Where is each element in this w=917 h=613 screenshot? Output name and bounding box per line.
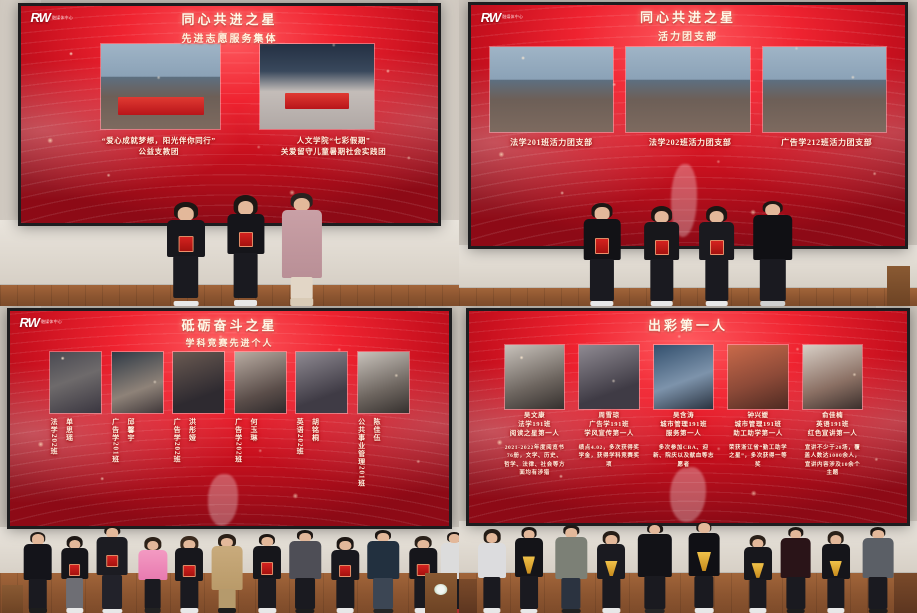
coat xyxy=(555,537,586,579)
panel4-honoree-4-detail: 荣获浙江省“勤工助学之星”，多次获得一等奖 xyxy=(727,444,788,469)
legs xyxy=(102,575,122,609)
legs xyxy=(590,259,614,301)
legs xyxy=(295,578,315,609)
panel4-portrait-1 xyxy=(504,344,565,410)
shoes xyxy=(695,608,714,613)
honoree-name: 胡铭桐 xyxy=(311,418,319,442)
honoree-major: 广告学202班 xyxy=(173,418,181,464)
panel3-honoree-1-major: 法学202班 xyxy=(49,418,58,513)
certificate xyxy=(339,565,351,577)
legs xyxy=(373,578,393,609)
honoree-name: 吴含涛 xyxy=(653,412,714,421)
photo-portrait xyxy=(235,352,286,412)
legs xyxy=(562,578,581,609)
jacket xyxy=(289,541,320,579)
awardee-person xyxy=(555,525,587,613)
legs xyxy=(694,576,713,609)
photo-portrait xyxy=(358,352,409,412)
honoree-major: 广告学201班 xyxy=(112,418,120,464)
panel2-awardees xyxy=(459,177,917,306)
awardee-person xyxy=(289,530,321,613)
honoree-name: 何玉琳 xyxy=(250,418,258,442)
panel3-portrait-1 xyxy=(49,351,102,413)
head xyxy=(698,523,710,532)
led-screen-4: 出彩第一人 吴文康 法学191班 阅读之星第一人 周雪琼 广告学191班 学风宣… xyxy=(466,308,910,526)
panel3-honoree-6: 陈佳伍 xyxy=(372,418,381,517)
panel4-honoree-2-head: 周雪琼 广告学191班 学风宣传第一人 xyxy=(578,412,639,438)
honoree-honor: 学风宣传第一人 xyxy=(578,430,639,439)
legs xyxy=(66,578,84,609)
honoree-honor: 阅读之星第一人 xyxy=(504,430,565,439)
shoes xyxy=(337,608,354,613)
certificate xyxy=(69,564,81,576)
photo-portrait xyxy=(50,352,101,412)
legs xyxy=(144,579,161,609)
awardee-person xyxy=(752,201,793,306)
panel4-honoree-5-detail: 宣讲不少于20场，覆盖人数达1000余人，宣讲内容涉及10余个主题 xyxy=(802,444,863,477)
panel2-headline-sub: 活力团支部 xyxy=(471,28,905,43)
panel1-caption-1-line2: 公益支教团 xyxy=(63,147,254,157)
panel3-awardees xyxy=(0,521,459,613)
honoree-name: 俞佳楠 xyxy=(802,412,863,421)
shoes xyxy=(749,608,766,613)
shoes xyxy=(650,301,673,306)
panel4-awardees xyxy=(459,518,917,613)
legs xyxy=(337,579,354,609)
photo-portrait xyxy=(173,352,224,412)
coat xyxy=(212,546,243,590)
honoree-major: 城市管理191班 xyxy=(727,421,788,430)
shoes xyxy=(29,608,47,613)
shoes xyxy=(869,609,888,613)
panel4-honoree-4-head: 钟兴媛 城市管理191班 助工助学第一人 xyxy=(727,412,788,438)
panel3-headline-main: 砥砺奋斗之星 xyxy=(10,315,449,334)
shoes xyxy=(103,609,122,613)
honoree-name: 邱馨宇 xyxy=(127,418,135,442)
panel4-honoree-1-head: 吴文康 法学191班 阅读之星第一人 xyxy=(504,412,565,438)
awardee-person xyxy=(688,522,720,613)
awardee-person xyxy=(60,536,90,613)
awardee-person xyxy=(225,195,266,306)
honoree-major: 英语202班 xyxy=(296,418,304,456)
certificate xyxy=(107,555,119,567)
photo-portrait xyxy=(579,345,638,409)
honoree-name: 钟兴媛 xyxy=(727,412,788,421)
shoes xyxy=(520,609,537,613)
panel1-photo-2 xyxy=(259,43,376,130)
certificate xyxy=(595,238,609,253)
suit xyxy=(780,538,811,577)
panel4-headline: 出彩第一人 xyxy=(469,315,907,334)
led-screen-3: RW 融媒体中心 砥砺奋斗之星 学科竞赛先进个人 单思瑶 法学202班 邱馨宇 … xyxy=(7,308,452,529)
honoree-name: 吴文康 xyxy=(504,412,565,421)
shoes xyxy=(66,608,83,613)
shoes xyxy=(259,608,276,613)
lectern xyxy=(894,573,917,613)
legs xyxy=(644,576,665,608)
legs xyxy=(705,259,728,301)
panel1-caption-1-line1: “爱心成就梦想，阳光伴你同行” xyxy=(63,136,254,146)
shoes xyxy=(760,301,786,306)
panel4-portrait-2 xyxy=(578,344,639,410)
shoes xyxy=(590,301,613,306)
photo-portrait xyxy=(296,352,347,412)
shoes xyxy=(786,609,805,613)
boots xyxy=(290,298,314,306)
awardee-person xyxy=(862,527,894,613)
certificate xyxy=(183,565,196,577)
honoree-name: 周雪琼 xyxy=(578,412,639,421)
panel-bottom-right: 出彩第一人 吴文康 法学191班 阅读之星第一人 周雪琼 广告学191班 学风宣… xyxy=(459,306,917,613)
panel4-honoree-3-head: 吴含涛 城市管理191班 服务第一人 xyxy=(653,412,714,438)
panel1-caption-1: “爱心成就梦想，阳光伴你同行” 公益支教团 xyxy=(63,136,254,156)
panel3-honoree-2: 邱馨宇 xyxy=(126,418,135,513)
awardee-person xyxy=(165,202,206,306)
head xyxy=(649,525,661,534)
panel1-headline: 同心共进之星 先进志愿服务集体 xyxy=(21,9,437,45)
shoes xyxy=(144,608,161,613)
puffer-jacket xyxy=(138,550,167,580)
panel-top-right: RW 融媒体中心 同心共进之星 活力团支部 法学201班活力团支部 法学202班… xyxy=(459,0,917,306)
panel2-headline: 同心共进之星 活力团支部 xyxy=(471,7,905,43)
awardee-person xyxy=(330,537,360,613)
legs xyxy=(219,589,236,610)
panel3-headline-sub: 学科竞赛先进个人 xyxy=(10,336,449,349)
honoree-name: 单思瑶 xyxy=(66,418,74,442)
shoes xyxy=(484,608,501,613)
awardee-person xyxy=(96,526,128,613)
awardee-person xyxy=(697,206,736,306)
legs xyxy=(650,259,673,301)
lectern xyxy=(887,266,910,306)
shoes xyxy=(218,608,236,613)
photo-portrait xyxy=(505,345,564,409)
panel1-headline-sub: 先进志愿服务集体 xyxy=(21,30,437,45)
shoes xyxy=(644,609,665,613)
legs xyxy=(760,259,786,301)
shoes xyxy=(234,300,258,306)
awardee-person xyxy=(642,206,681,306)
legs xyxy=(181,580,198,609)
panel3-honoree-6-major: 公共事业管理201班 xyxy=(357,418,366,517)
panel3-portrait-6 xyxy=(357,351,410,413)
panel3-headline: 砥砺奋斗之星 学科竞赛先进个人 xyxy=(10,315,449,349)
honoree-major: 法学202班 xyxy=(50,418,58,456)
shoes xyxy=(173,301,198,306)
panel1-caption-2-line2: 关爱留守儿童暑期社会实践团 xyxy=(238,147,429,157)
jacket xyxy=(863,538,894,577)
photo-classroom xyxy=(490,47,614,132)
photo-outdoor-group xyxy=(101,44,220,129)
photo-hall-group xyxy=(260,44,375,129)
awardee-person xyxy=(638,524,672,613)
photo-classroom xyxy=(763,47,887,132)
photo-collage: RW 融媒体中心 同心共进之星 先进志愿服务集体 “爱心成就梦想，阳光伴你同行”… xyxy=(0,0,917,613)
honoree-major: 城市管理191班 xyxy=(653,421,714,430)
school-emblem-icon xyxy=(434,584,447,595)
legs xyxy=(258,578,276,609)
panel3-honoree-5-major: 英语202班 xyxy=(295,418,304,513)
honoree-honor: 服务第一人 xyxy=(653,430,714,439)
photo-banner xyxy=(118,97,203,116)
side-podium xyxy=(459,579,477,613)
panel4-honoree-1-detail: 2021-2022年度阅览书76册，文学、历史、哲学、法律、社会等方面均有涉猎 xyxy=(504,444,565,477)
legs xyxy=(603,578,620,609)
legs xyxy=(290,277,313,300)
panel3-honoree-4-major: 广告学202班 xyxy=(234,418,243,513)
panel1-caption-2-line1: 人文学院“七彩假期” xyxy=(238,136,429,146)
panel4-portrait-5 xyxy=(802,344,863,410)
shoes xyxy=(827,608,844,613)
honoree-honor: 助工助学第一人 xyxy=(727,430,788,439)
certificate xyxy=(655,240,669,255)
photo-portrait xyxy=(654,345,713,409)
head xyxy=(178,207,195,221)
panel3-honoree-3-major: 广告学202班 xyxy=(172,418,181,513)
honoree-name: 洪彤娅 xyxy=(189,418,197,442)
certificate xyxy=(178,236,193,252)
legs xyxy=(233,253,258,299)
shoes xyxy=(296,609,315,613)
torso xyxy=(753,215,793,259)
decorative-figure xyxy=(670,467,705,522)
panel4-honoree-2-detail: 绩点4.02，多次获得奖学金，获得学科竞赛奖项 xyxy=(578,444,639,469)
photo-classroom xyxy=(626,47,750,132)
legs xyxy=(173,256,199,298)
honoree-major: 法学191班 xyxy=(504,421,565,430)
awardee-person xyxy=(174,536,204,613)
shoes xyxy=(705,301,728,306)
panel3-portrait-4 xyxy=(234,351,287,413)
awardee-person xyxy=(780,527,812,613)
awardee-person xyxy=(211,534,243,613)
awardee-person xyxy=(477,529,507,613)
panel1-headline-main: 同心共进之星 xyxy=(21,9,437,28)
panel4-honoree-5-head: 俞佳楠 英语191班 红色宣讲第一人 xyxy=(802,412,863,438)
panel2-photo-1 xyxy=(489,46,615,133)
panel3-honoree-4: 何玉琳 xyxy=(249,418,258,513)
panel2-caption-1: 法学201班活力团支部 xyxy=(480,138,623,149)
panel3-portrait-2 xyxy=(111,351,164,413)
panel4-headline-main: 出彩第一人 xyxy=(469,315,907,334)
panel-top-left: RW 融媒体中心 同心共进之星 先进志愿服务集体 “爱心成就梦想，阳光伴你同行”… xyxy=(0,0,459,306)
legs xyxy=(786,577,805,609)
awardee-person xyxy=(252,534,282,613)
panel3-honoree-3: 洪彤娅 xyxy=(188,418,197,513)
panel1-awardees xyxy=(0,165,459,306)
legs xyxy=(484,577,501,609)
shoes xyxy=(603,608,620,613)
panel3-honoree-5: 胡铭桐 xyxy=(311,418,320,513)
awardee-person xyxy=(583,203,622,306)
panel2-photo-3 xyxy=(762,46,888,133)
panel3-honoree-2-major: 广告学201班 xyxy=(111,418,120,513)
panel4-portrait-3 xyxy=(653,344,714,410)
honoree-major: 英语191班 xyxy=(802,421,863,430)
legs xyxy=(827,578,844,609)
panel2-caption-3: 广告学212班活力团支部 xyxy=(755,138,898,149)
awardee-person xyxy=(821,531,851,613)
awardee-person xyxy=(280,193,324,306)
panel2-headline-main: 同心共进之星 xyxy=(471,7,905,26)
honoree-honor: 红色宣讲第一人 xyxy=(802,430,863,439)
legs xyxy=(749,579,766,609)
legs xyxy=(29,579,47,610)
panel4-portrait-4 xyxy=(727,344,788,410)
photo-banner xyxy=(285,93,349,108)
coat xyxy=(282,210,322,278)
legs xyxy=(868,577,887,609)
awardee-person xyxy=(743,535,773,613)
panel2-photo-2 xyxy=(625,46,751,133)
awardee-person xyxy=(23,532,53,613)
puffer-jacket xyxy=(638,534,672,577)
panel1-caption-2: 人文学院“七彩假期” 关爱留守儿童暑期社会实践团 xyxy=(238,136,429,156)
certificate xyxy=(710,240,724,255)
photo-portrait xyxy=(112,352,163,412)
legs xyxy=(520,576,538,609)
awardee-person xyxy=(596,531,626,613)
awardee-person xyxy=(138,537,168,613)
panel2-caption-2: 法学202班活力团支部 xyxy=(619,138,762,149)
lectern xyxy=(425,573,457,613)
honoree-name: 陈佳伍 xyxy=(373,418,381,442)
panel-bottom-left: RW 融媒体中心 砥砺奋斗之星 学科竞赛先进个人 单思瑶 法学202班 邱馨宇 … xyxy=(0,306,459,613)
panel3-honoree-1: 单思瑶 xyxy=(65,418,74,513)
photo-portrait xyxy=(728,345,787,409)
side-podium xyxy=(2,585,23,613)
honoree-major: 广告学202班 xyxy=(235,418,243,464)
honoree-major: 广告学191班 xyxy=(578,421,639,430)
certificate xyxy=(261,562,273,575)
panel3-portrait-3 xyxy=(172,351,225,413)
shoes xyxy=(374,609,393,613)
shoes xyxy=(562,609,581,613)
shoes xyxy=(181,608,198,613)
honoree-major: 公共事业管理201班 xyxy=(358,418,366,488)
panel4-honoree-3-detail: 多次参加CBA、迎新、院庆以及献血等志愿者 xyxy=(653,444,714,469)
jacket xyxy=(368,541,399,579)
panel1-photo-1 xyxy=(100,43,221,130)
certificate xyxy=(239,232,253,248)
photo-portrait xyxy=(803,345,862,409)
jacket xyxy=(478,543,506,578)
awardee-person xyxy=(367,530,399,613)
awardee-person xyxy=(514,527,544,613)
torso xyxy=(24,544,53,580)
panel3-portrait-5 xyxy=(295,351,348,413)
